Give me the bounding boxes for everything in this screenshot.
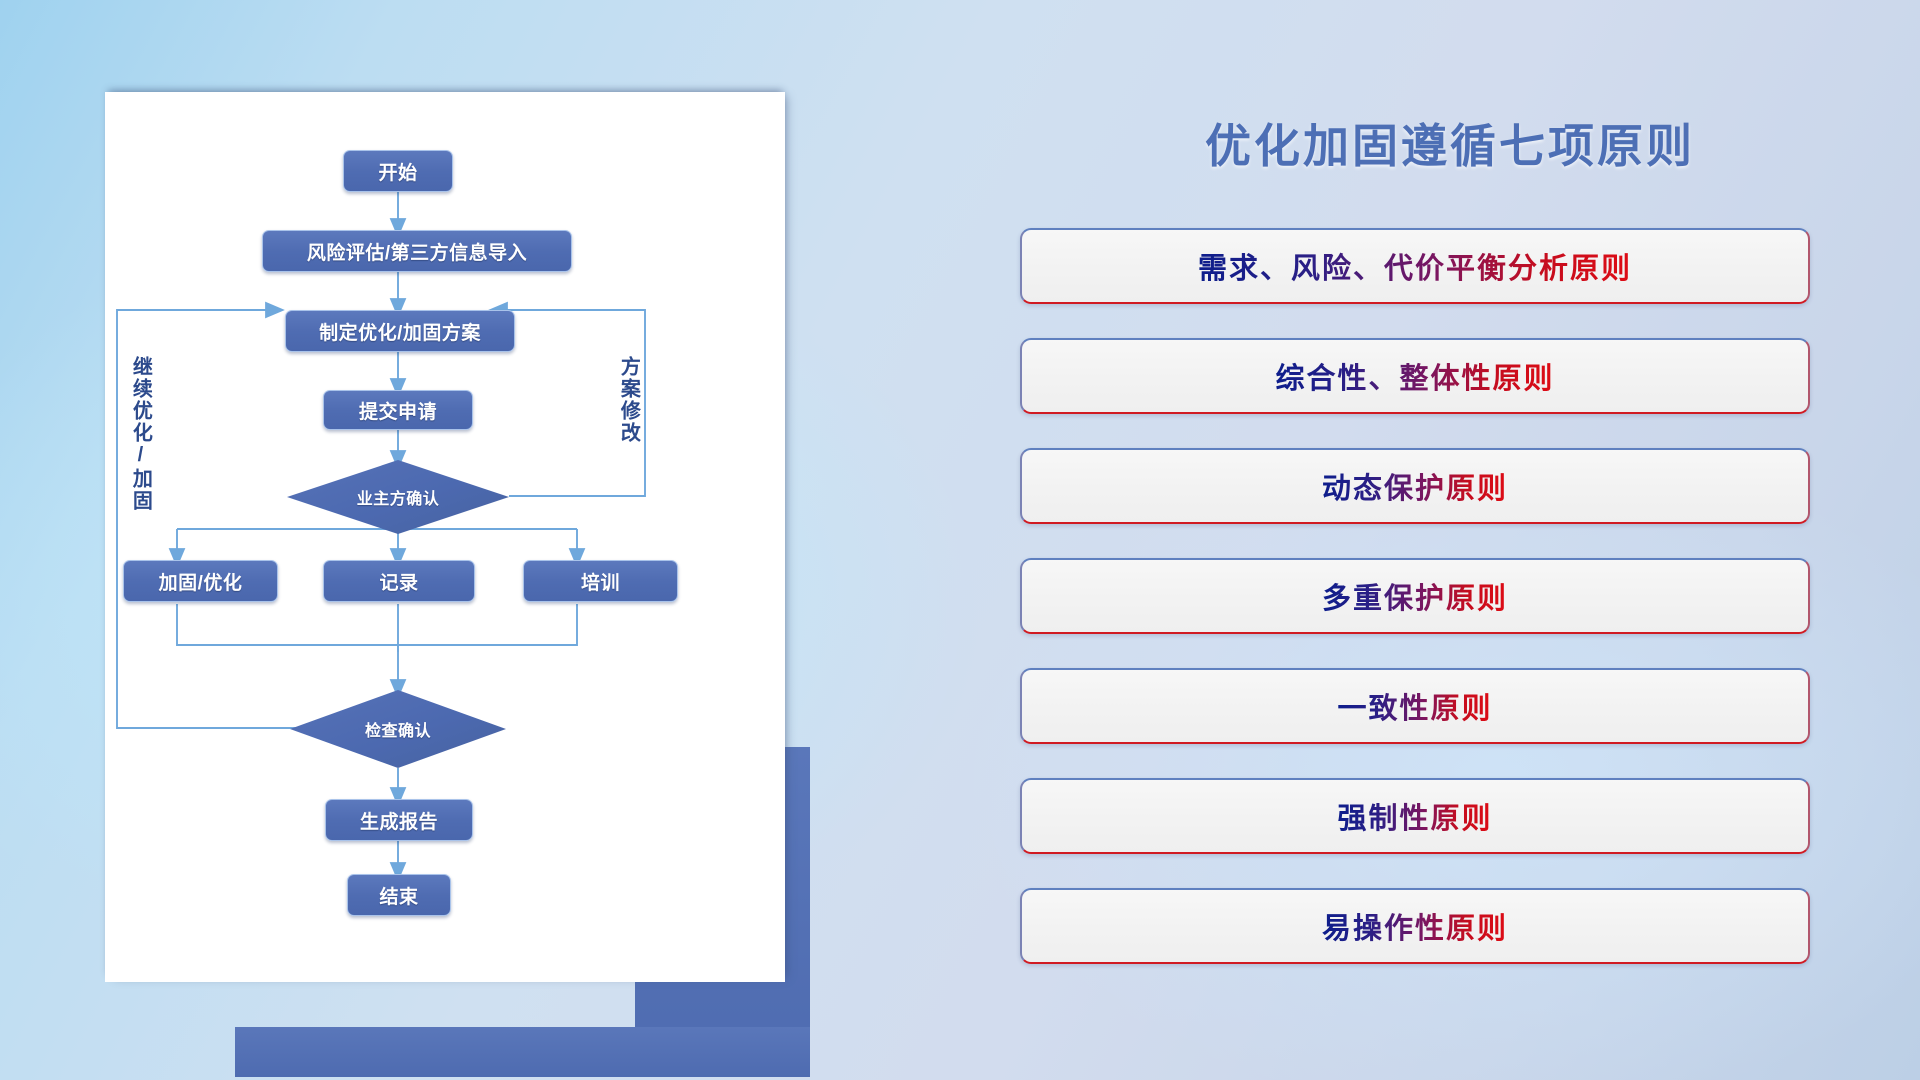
principle-item[interactable]: 多重保护原则	[1020, 558, 1810, 634]
flow-node-check-confirm[interactable]: 检查确认	[290, 690, 506, 768]
principle-item[interactable]: 一致性原则	[1020, 668, 1810, 744]
principle-item[interactable]: 需求、风险、代价平衡分析原则	[1020, 228, 1810, 304]
card-accent-rect-horizontal	[235, 1027, 810, 1077]
principle-label: 易操作性原则	[1322, 905, 1508, 947]
flowchart-card: 开始 风险评估/第三方信息导入 制定优化/加固方案 提交申请 业主方确认 加固/…	[105, 92, 785, 982]
principles-panel: 优化加固遵循七项原则 需求、风险、代价平衡分析原则 综合性、整体性原则 动态保护…	[1020, 0, 1880, 1080]
flow-node-end[interactable]: 结束	[347, 874, 451, 916]
edge-label-plan-revision: 方案修改	[618, 356, 638, 496]
principles-list: 需求、风险、代价平衡分析原则 综合性、整体性原则 动态保护原则 多重保护原则 一…	[1020, 228, 1810, 998]
flow-node-label: 制定优化/加固方案	[319, 318, 481, 345]
flow-node-training[interactable]: 培训	[523, 560, 678, 602]
flow-node-label: 开始	[378, 158, 417, 185]
principle-item[interactable]: 综合性、整体性原则	[1020, 338, 1810, 414]
flow-node-reinforce-optimize[interactable]: 加固/优化	[123, 560, 278, 602]
flow-node-start[interactable]: 开始	[343, 150, 453, 192]
flow-node-risk-assessment[interactable]: 风险评估/第三方信息导入	[262, 230, 572, 272]
flow-node-label: 生成报告	[360, 807, 438, 834]
page-title: 优化加固遵循七项原则	[1150, 110, 1750, 176]
principle-label: 强制性原则	[1337, 795, 1492, 837]
flow-node-label: 记录	[379, 568, 418, 595]
principle-label: 多重保护原则	[1322, 575, 1508, 617]
principle-label: 一致性原则	[1337, 685, 1492, 727]
flow-node-generate-report[interactable]: 生成报告	[325, 799, 473, 841]
flow-node-label: 加固/优化	[159, 568, 243, 595]
flow-node-label: 培训	[581, 568, 620, 595]
flow-node-plan[interactable]: 制定优化/加固方案	[285, 310, 515, 352]
principle-item[interactable]: 易操作性原则	[1020, 888, 1810, 964]
flowchart-panel: 开始 风险评估/第三方信息导入 制定优化/加固方案 提交申请 业主方确认 加固/…	[105, 92, 785, 992]
edge-label-continue-optimize: 继续优化/加固	[130, 356, 150, 556]
principle-label: 综合性、整体性原则	[1275, 355, 1554, 397]
flow-node-submit-application[interactable]: 提交申请	[323, 390, 473, 430]
flow-node-owner-confirm[interactable]: 业主方确认	[287, 460, 509, 534]
flow-node-label: 风险评估/第三方信息导入	[307, 238, 527, 265]
principle-label: 动态保护原则	[1322, 465, 1508, 507]
flow-node-label: 业主方确认	[357, 485, 440, 509]
principle-item[interactable]: 强制性原则	[1020, 778, 1810, 854]
flow-node-label: 结束	[379, 882, 418, 909]
principle-label: 需求、风险、代价平衡分析原则	[1198, 245, 1632, 287]
flow-node-label: 检查确认	[365, 717, 431, 741]
principle-item[interactable]: 动态保护原则	[1020, 448, 1810, 524]
flowchart-connectors	[105, 92, 785, 982]
flow-node-label: 提交申请	[359, 397, 437, 424]
flow-node-record[interactable]: 记录	[323, 560, 475, 602]
